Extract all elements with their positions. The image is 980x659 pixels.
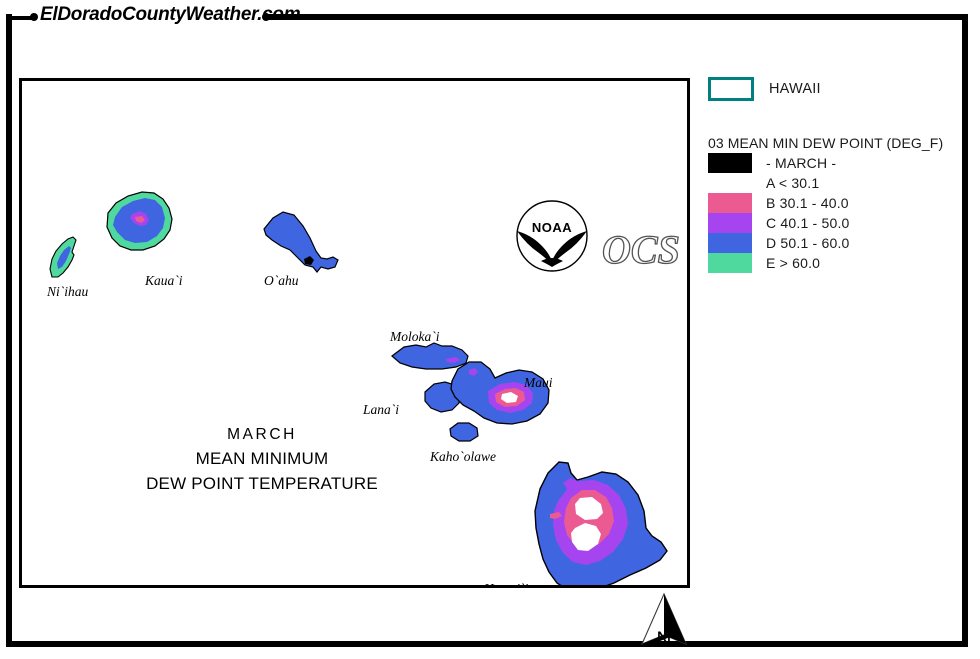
island-shape-molokai bbox=[392, 343, 468, 369]
island-label-lanai: Lana`i bbox=[363, 402, 399, 418]
island-shape-niihau bbox=[50, 237, 76, 277]
legend-swatch-a bbox=[708, 173, 752, 193]
legend-row: C 40.1 - 50.0 bbox=[708, 213, 970, 233]
legend-label-b: B 30.1 - 40.0 bbox=[766, 195, 849, 211]
legend-row: E > 60.0 bbox=[708, 253, 970, 273]
hawaii-outline-swatch bbox=[708, 77, 754, 101]
ocs-logo: OCS bbox=[600, 226, 684, 272]
legend-row: B 30.1 - 40.0 bbox=[708, 193, 970, 213]
legend-swatch-c bbox=[708, 213, 752, 233]
noaa-logo-text: NOAA bbox=[532, 220, 572, 235]
island-shape-kauai bbox=[107, 192, 172, 250]
island-label-hawaii: Hawai`i bbox=[484, 581, 528, 588]
legend-label-period: - MARCH - bbox=[766, 155, 836, 171]
island-label-molokai: Moloka`i bbox=[390, 329, 440, 345]
legend: HAWAII 03 MEAN MIN DEW POINT (DEG_F) - M… bbox=[708, 76, 970, 273]
legend-label-e: E > 60.0 bbox=[766, 255, 820, 271]
ocs-logo-text: OCS bbox=[602, 227, 680, 272]
noaa-logo: NOAA bbox=[511, 199, 593, 273]
island-label-oahu: O`ahu bbox=[264, 273, 299, 289]
hawaii-island-map bbox=[22, 81, 687, 585]
island-shape-maui bbox=[451, 362, 549, 424]
legend-heading: 03 MEAN MIN DEW POINT (DEG_F) bbox=[708, 135, 970, 151]
island-shape-hawaii bbox=[535, 462, 667, 585]
legend-swatch-period bbox=[708, 153, 752, 173]
island-label-niihau: Ni`ihau bbox=[47, 284, 88, 300]
legend-region-row: HAWAII bbox=[708, 76, 970, 102]
legend-label-d: D 50.1 - 60.0 bbox=[766, 235, 850, 251]
legend-swatch-d bbox=[708, 233, 752, 253]
north-arrow-label: N bbox=[636, 628, 692, 652]
legend-row: - MARCH - bbox=[708, 153, 970, 173]
frame-top-bar bbox=[267, 14, 968, 20]
map-panel: NOAA OCS MARCH MEAN MINIMUM DEW POINT TE… bbox=[19, 78, 690, 588]
legend-swatch-b bbox=[708, 193, 752, 213]
map-title-variable: DEW POINT TEMPERATURE bbox=[22, 474, 502, 494]
legend-label-c: C 40.1 - 50.0 bbox=[766, 215, 850, 231]
island-shape-oahu bbox=[264, 212, 338, 272]
frame-dot-left bbox=[30, 13, 38, 21]
legend-row: D 50.1 - 60.0 bbox=[708, 233, 970, 253]
legend-row: A < 30.1 bbox=[708, 173, 970, 193]
site-title: ElDoradoCountyWeather.com bbox=[40, 4, 300, 26]
map-title-month: MARCH bbox=[22, 426, 502, 444]
legend-class-block: 03 MEAN MIN DEW POINT (DEG_F) - MARCH - … bbox=[708, 135, 970, 273]
legend-label-a: A < 30.1 bbox=[766, 175, 819, 191]
island-label-kauai: Kaua`i bbox=[145, 273, 183, 289]
island-label-kahoolawe: Kaho`olawe bbox=[430, 449, 496, 465]
island-label-maui: Maui bbox=[524, 375, 553, 391]
hawaii-label: HAWAII bbox=[769, 81, 821, 97]
legend-swatch-e bbox=[708, 253, 752, 273]
